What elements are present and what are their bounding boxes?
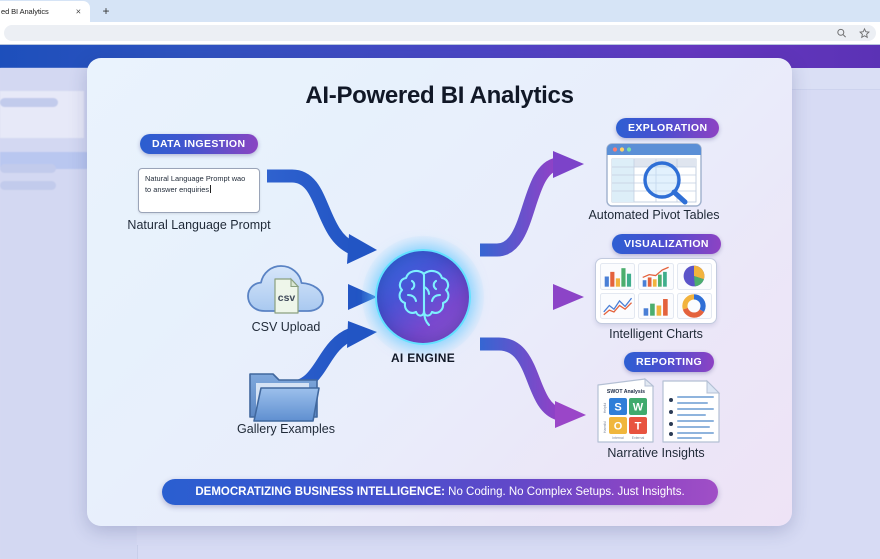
swot-col-label-internal: Internal bbox=[612, 436, 624, 440]
swot-col-label-external: External bbox=[632, 436, 645, 440]
url-bar-row bbox=[0, 22, 880, 44]
badge-exploration: EXPLORATION bbox=[616, 118, 719, 138]
tagline-text: DEMOCRATIZING BUSINESS INTELLIGENCE: No … bbox=[195, 486, 684, 498]
arrow-engine-to-pivot bbox=[480, 151, 584, 250]
sidebar-placeholder-bar bbox=[0, 164, 56, 173]
tab-strip: ed BI Analytics × + bbox=[0, 0, 880, 22]
csv-file-badge: csv bbox=[278, 292, 296, 304]
chart-thumb-line-bar bbox=[638, 263, 673, 290]
infographic-card: AI-Powered BI Analytics bbox=[87, 58, 792, 526]
label-natural-language-prompt: Natural Language Prompt bbox=[123, 218, 275, 232]
browser-chrome: ed BI Analytics × + bbox=[0, 0, 880, 45]
badge-visualization: VISUALIZATION bbox=[612, 234, 721, 254]
label-narrative-insights: Narrative Insights bbox=[565, 446, 747, 460]
label-gallery-examples: Gallery Examples bbox=[173, 422, 399, 436]
label-intelligent-charts: Intelligent Charts bbox=[565, 327, 747, 341]
swot-title: SWOT Analysis bbox=[607, 389, 645, 395]
swot-row-label-harmful: Harmful bbox=[603, 421, 607, 433]
tagline-tail: No Coding. No Complex Setups. Just Insig… bbox=[445, 486, 685, 498]
ai-engine-node[interactable] bbox=[375, 249, 471, 345]
label-ai-engine: AI ENGINE bbox=[356, 351, 490, 365]
star-icon[interactable] bbox=[859, 28, 870, 39]
chart-thumb-bar bbox=[600, 263, 635, 290]
close-icon[interactable]: × bbox=[76, 7, 81, 16]
swot-cell-w: W bbox=[633, 402, 644, 414]
swot-cell-o: O bbox=[614, 421, 623, 433]
swot-document-icon[interactable]: SWOT Analysis S W O T Helpful Harmful In… bbox=[595, 376, 723, 446]
prompt-input-box[interactable]: Natural Language Prompt wao to answer en… bbox=[138, 168, 260, 213]
chart-thumb-bar-2 bbox=[638, 293, 673, 320]
page-title: AI-Powered BI Analytics bbox=[87, 82, 792, 110]
arrow-engine-to-reports bbox=[480, 344, 586, 428]
zoom-icon[interactable] bbox=[836, 28, 847, 39]
spreadsheet-magnifier-icon[interactable] bbox=[605, 142, 703, 208]
label-csv-upload: CSV Upload bbox=[223, 320, 349, 334]
cloud-upload-icon[interactable]: csv bbox=[245, 263, 327, 319]
address-bar-actions bbox=[836, 28, 870, 39]
prompt-input-value: Natural Language Prompt wao to answer en… bbox=[145, 174, 253, 195]
sidebar-placeholder-bar bbox=[0, 98, 58, 107]
badge-data-ingestion: DATA INGESTION bbox=[140, 134, 258, 154]
chart-thumb-donut bbox=[677, 293, 712, 320]
chart-thumb-line bbox=[600, 293, 635, 320]
browser-tab[interactable]: ed BI Analytics × bbox=[0, 1, 90, 22]
badge-reporting: REPORTING bbox=[624, 352, 714, 372]
swot-cell-t: T bbox=[635, 421, 642, 433]
arrow-prompt-to-engine bbox=[267, 176, 377, 264]
blurred-column-divider bbox=[137, 545, 138, 559]
swot-row-label-helpful: Helpful bbox=[603, 402, 607, 413]
chart-thumb-pie bbox=[677, 263, 712, 290]
arrow-engine-to-charts bbox=[479, 284, 584, 310]
address-input[interactable] bbox=[4, 25, 876, 41]
label-automated-pivot-tables: Automated Pivot Tables bbox=[540, 208, 768, 222]
tagline-banner: DEMOCRATIZING BUSINESS INTELLIGENCE: No … bbox=[162, 479, 718, 505]
swot-cell-s: S bbox=[614, 402, 621, 414]
tab-title: ed BI Analytics bbox=[1, 7, 49, 16]
sidebar-placeholder-bar bbox=[0, 181, 56, 190]
new-tab-icon[interactable]: + bbox=[98, 3, 114, 19]
text-caret bbox=[210, 185, 211, 193]
charts-grid-icon[interactable] bbox=[595, 258, 717, 324]
tagline-lead: DEMOCRATIZING BUSINESS INTELLIGENCE: bbox=[195, 486, 445, 498]
brain-icon bbox=[393, 265, 455, 329]
folder-icon[interactable] bbox=[247, 366, 325, 428]
